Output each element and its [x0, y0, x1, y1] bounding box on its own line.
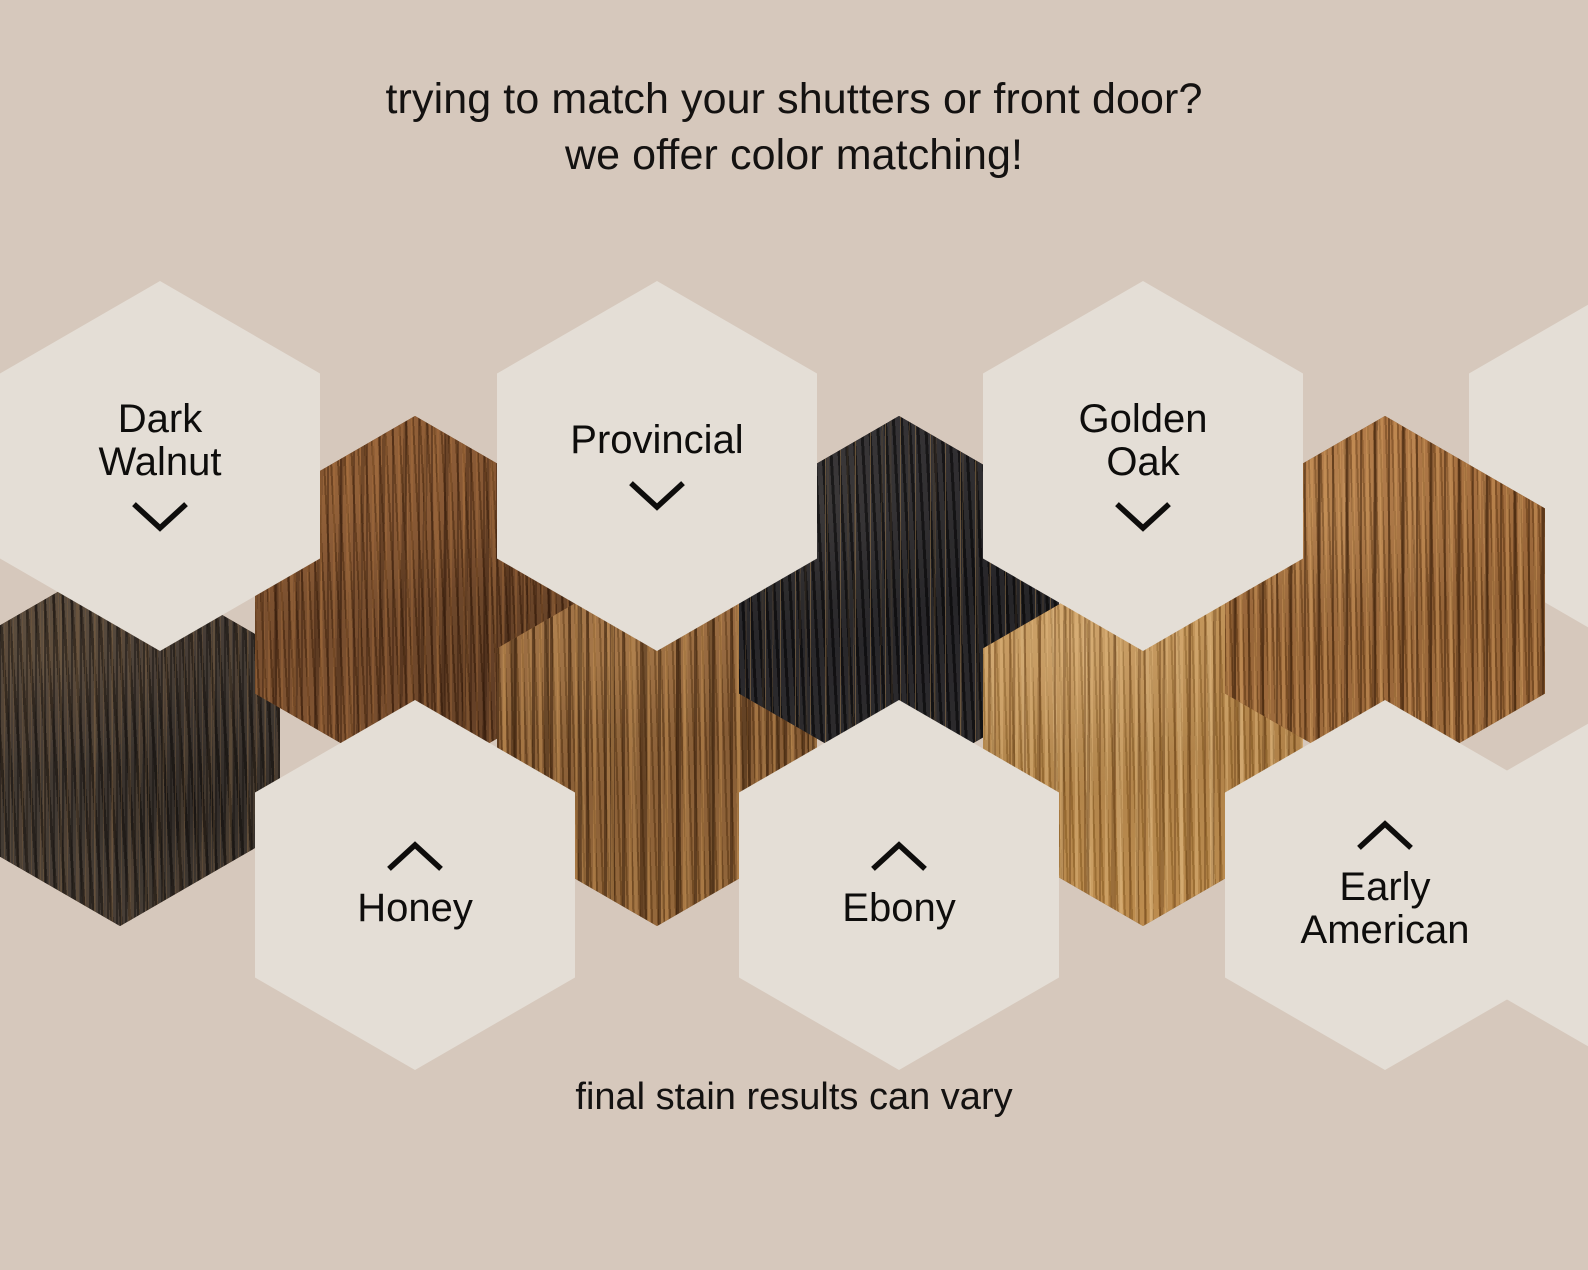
stain-label-golden-oak: Golden Oak [1079, 398, 1208, 484]
chevron-down-icon [1114, 500, 1172, 534]
stain-label-early-american: Early American [1301, 866, 1470, 952]
stain-label-honey: Honey [357, 887, 473, 930]
chevron-down-icon [131, 500, 189, 534]
stain-chart-canvas: trying to match your shutters or front d… [0, 0, 1588, 1270]
chevron-up-icon [386, 839, 444, 873]
chevron-up-icon [870, 839, 928, 873]
stain-label-dark-walnut: Dark Walnut [98, 398, 221, 484]
chevron-up-icon [1356, 818, 1414, 852]
chevron-down-icon [628, 479, 686, 513]
stain-label-provincial: Provincial [570, 419, 743, 462]
disclaimer-text: final stain results can vary [0, 1076, 1588, 1119]
stain-label-ebony: Ebony [842, 887, 955, 930]
page-title: trying to match your shutters or front d… [0, 72, 1588, 184]
